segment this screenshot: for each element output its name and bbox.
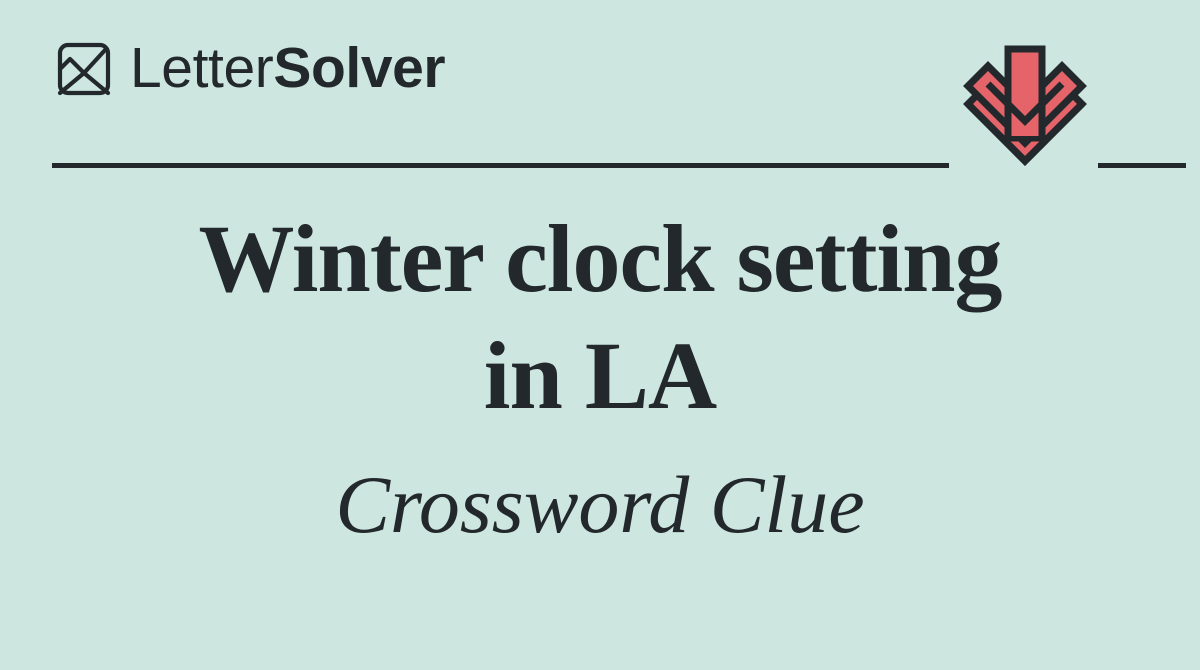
checkbox-check-icon xyxy=(56,41,112,97)
brand-logo[interactable]: Letter Solver xyxy=(56,40,445,97)
page-subtitle: Crossword Clue xyxy=(0,460,1200,550)
header-divider-left xyxy=(52,163,949,168)
arrow-down-icon xyxy=(958,42,1092,194)
brand-wordmark-light: Letter xyxy=(130,40,273,97)
clue-title-line-2: in LA xyxy=(484,322,716,429)
page-title: Winter clock setting in LA xyxy=(0,200,1200,434)
brand-wordmark: Letter Solver xyxy=(130,40,445,97)
clue-title-line-1: Winter clock setting xyxy=(198,205,1001,312)
header-divider-right xyxy=(1098,163,1186,168)
clue-block: Winter clock setting in LA Crossword Clu… xyxy=(0,200,1200,550)
brand-wordmark-bold: Solver xyxy=(273,40,445,97)
site-header: Letter Solver xyxy=(0,0,1200,190)
clue-card: Letter Solver xyxy=(0,0,1200,670)
